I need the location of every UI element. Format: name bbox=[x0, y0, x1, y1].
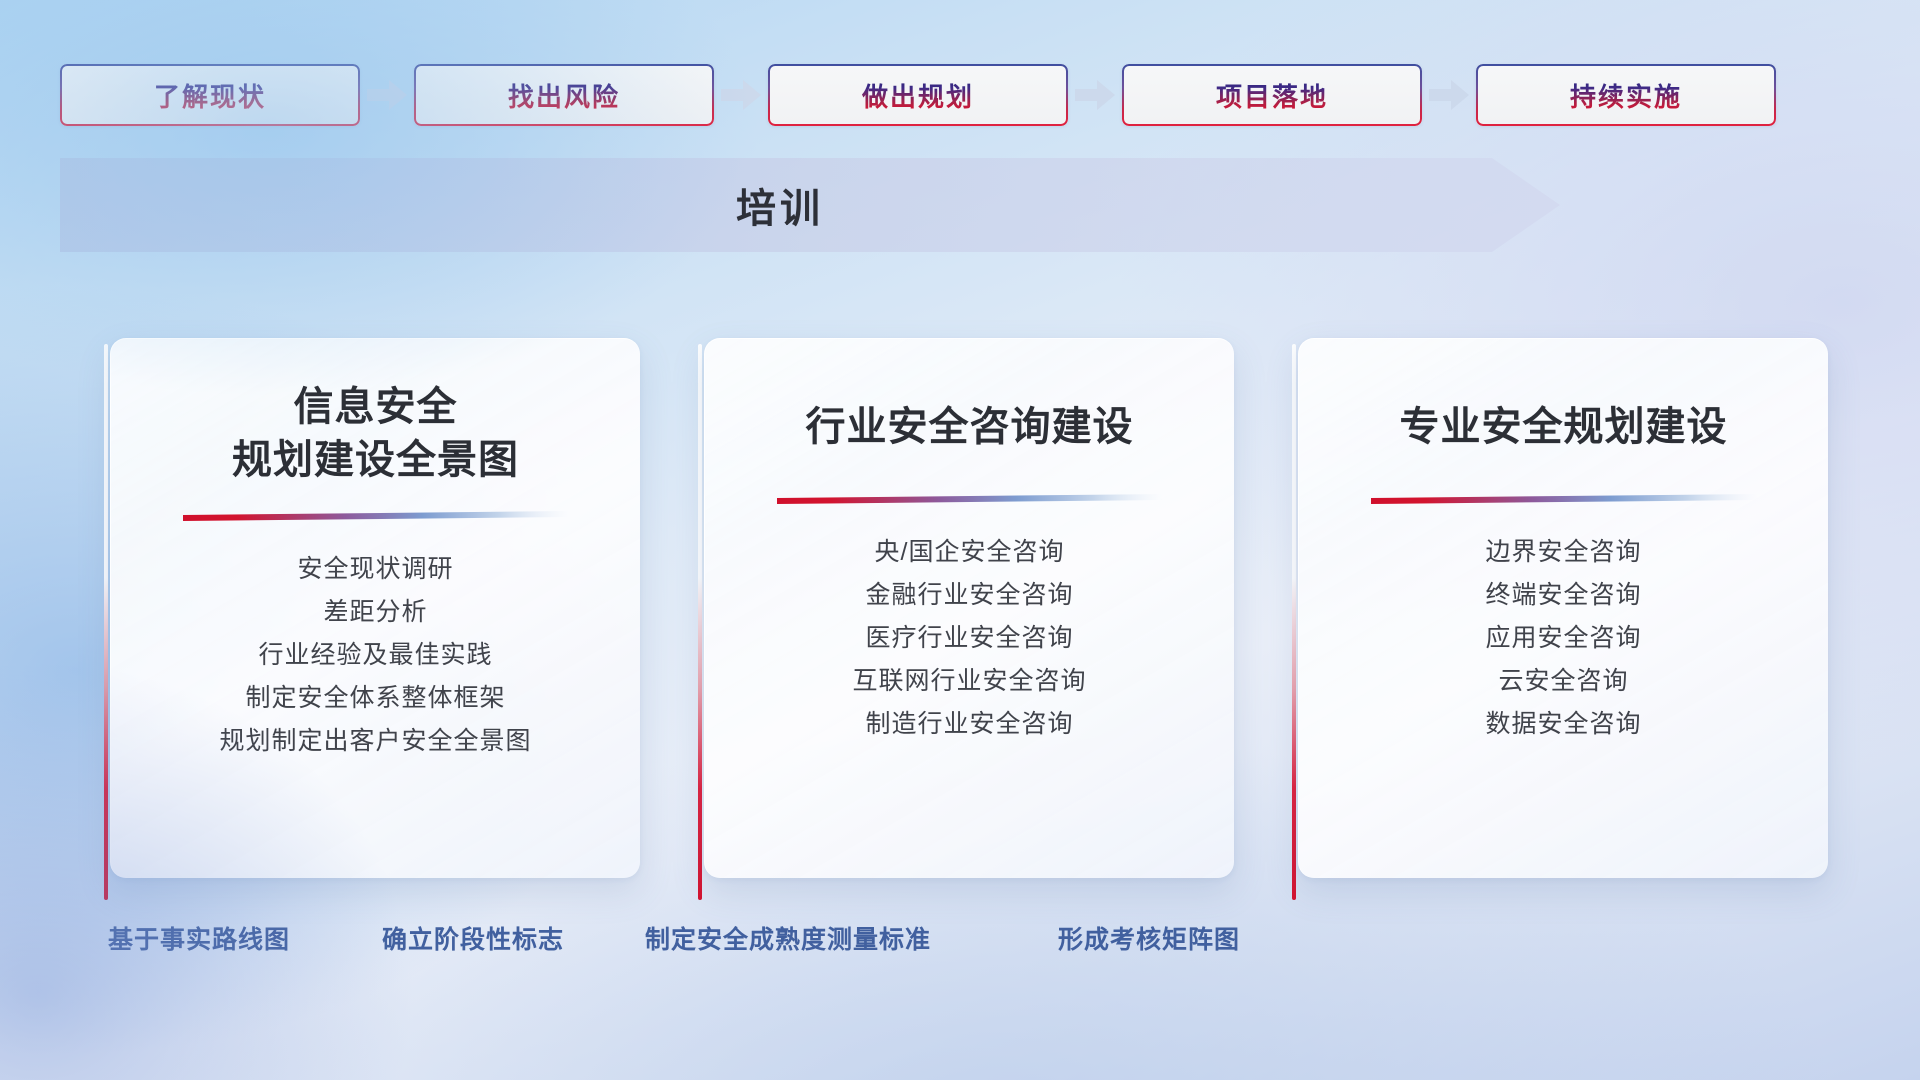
card-accent-bar-3 bbox=[1292, 344, 1296, 900]
step-card-2[interactable]: 找出风险 bbox=[414, 64, 714, 126]
process-step-flow: 了解现状 找出风险 做出规划 项目落地 bbox=[60, 64, 1860, 126]
right-arrow-icon-2 bbox=[714, 80, 768, 110]
list-item: 云安全咨询 bbox=[1299, 669, 1828, 694]
list-item: 制造行业安全咨询 bbox=[705, 712, 1234, 737]
step-label-5: 持续实施 bbox=[1570, 77, 1682, 114]
caption-1: 基于事实路线图 bbox=[108, 920, 290, 956]
step-label-4: 项目落地 bbox=[1216, 77, 1328, 114]
step-card-3[interactable]: 做出规划 bbox=[768, 64, 1068, 126]
training-banner: 培训 bbox=[60, 158, 1560, 252]
right-arrow-icon-1 bbox=[360, 80, 414, 110]
capability-card-2[interactable]: 行业安全咨询建设 bbox=[704, 338, 1234, 878]
capability-card-3[interactable]: 专业安全规划建设 bbox=[1298, 338, 1828, 878]
list-item: 央/国企安全咨询 bbox=[705, 540, 1234, 565]
caption-2: 确立阶段性标志 bbox=[382, 920, 564, 956]
outcome-caption-row: 基于事实路线图 确立阶段性标志 制定安全成熟度测量标准 形成考核矩阵图 bbox=[0, 920, 1920, 964]
list-item: 医疗行业安全咨询 bbox=[705, 626, 1234, 651]
card-list-1: 安全现状调研 差距分析 行业经验及最佳实践 制定安全体系整体框架 规划制定出客户… bbox=[111, 557, 640, 754]
step-card-1[interactable]: 了解现状 bbox=[60, 64, 360, 126]
card-list-2: 央/国企安全咨询 金融行业安全咨询 医疗行业安全咨询 互联网行业安全咨询 制造行… bbox=[705, 540, 1234, 737]
list-item: 应用安全咨询 bbox=[1299, 626, 1828, 651]
right-arrow-icon-4 bbox=[1422, 80, 1476, 110]
card-list-3: 边界安全咨询 终端安全咨询 应用安全咨询 云安全咨询 数据安全咨询 bbox=[1299, 540, 1828, 737]
right-arrow-icon-3 bbox=[1068, 80, 1122, 110]
banner-label: 培训 bbox=[60, 158, 1560, 252]
list-item: 边界安全咨询 bbox=[1299, 540, 1828, 565]
caption-3: 制定安全成熟度测量标准 bbox=[645, 920, 931, 956]
list-item: 终端安全咨询 bbox=[1299, 583, 1828, 608]
list-item: 规划制定出客户安全全景图 bbox=[111, 729, 640, 754]
card-divider-3 bbox=[1371, 494, 1757, 504]
step-card-5[interactable]: 持续实施 bbox=[1476, 64, 1776, 126]
card-title-3: 专业安全规划建设 bbox=[1400, 401, 1728, 454]
card-divider-1 bbox=[183, 511, 569, 521]
step-label-3: 做出规划 bbox=[862, 77, 974, 114]
slide-canvas: 了解现状 找出风险 做出规划 项目落地 bbox=[0, 0, 1920, 1080]
list-item: 差距分析 bbox=[111, 600, 640, 625]
list-item: 数据安全咨询 bbox=[1299, 712, 1828, 737]
capability-card-1[interactable]: 信息安全 规划建设全景图 bbox=[110, 338, 640, 878]
list-item: 安全现状调研 bbox=[111, 557, 640, 582]
list-item: 金融行业安全咨询 bbox=[705, 583, 1234, 608]
list-item: 行业经验及最佳实践 bbox=[111, 643, 640, 668]
card-accent-bar-1 bbox=[104, 344, 108, 900]
card-title-2: 行业安全咨询建设 bbox=[806, 401, 1134, 454]
step-label-2: 找出风险 bbox=[508, 77, 620, 114]
list-item: 互联网行业安全咨询 bbox=[705, 669, 1234, 694]
caption-4: 形成考核矩阵图 bbox=[1058, 920, 1240, 956]
capability-card-row: 信息安全 规划建设全景图 bbox=[110, 338, 1860, 878]
step-label-1: 了解现状 bbox=[154, 77, 266, 114]
step-card-4[interactable]: 项目落地 bbox=[1122, 64, 1422, 126]
card-accent-bar-2 bbox=[698, 344, 702, 900]
card-title-1: 信息安全 规划建设全景图 bbox=[232, 381, 519, 487]
list-item: 制定安全体系整体框架 bbox=[111, 686, 640, 711]
card-divider-2 bbox=[777, 494, 1163, 504]
